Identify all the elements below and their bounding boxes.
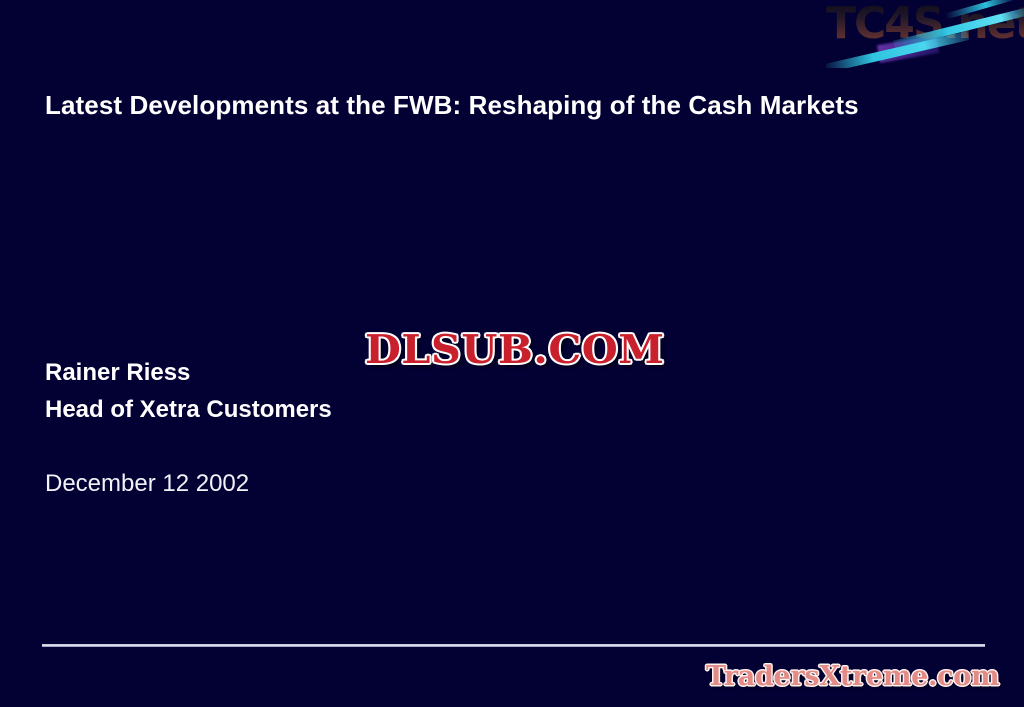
watermark-tradersxtreme: TradersXtreme.com [706, 661, 999, 692]
slide-date: December 12 2002 [45, 469, 249, 499]
slide-title: Latest Developments at the FWB: Reshapin… [45, 86, 945, 124]
presenter-name: Rainer Riess [45, 354, 332, 391]
watermark-tc4s: TC4S.net [826, 0, 1024, 68]
watermark-dlsub: DLSUB.COM [365, 327, 665, 373]
watermark-tc4s-label: TC4S.net [826, 0, 1024, 49]
presenter-role: Head of Xetra Customers [45, 391, 332, 428]
presenter-block: Rainer Riess Head of Xetra Customers [45, 354, 332, 428]
footer-divider [42, 644, 985, 647]
presentation-slide: Latest Developments at the FWB: Reshapin… [0, 0, 1024, 707]
